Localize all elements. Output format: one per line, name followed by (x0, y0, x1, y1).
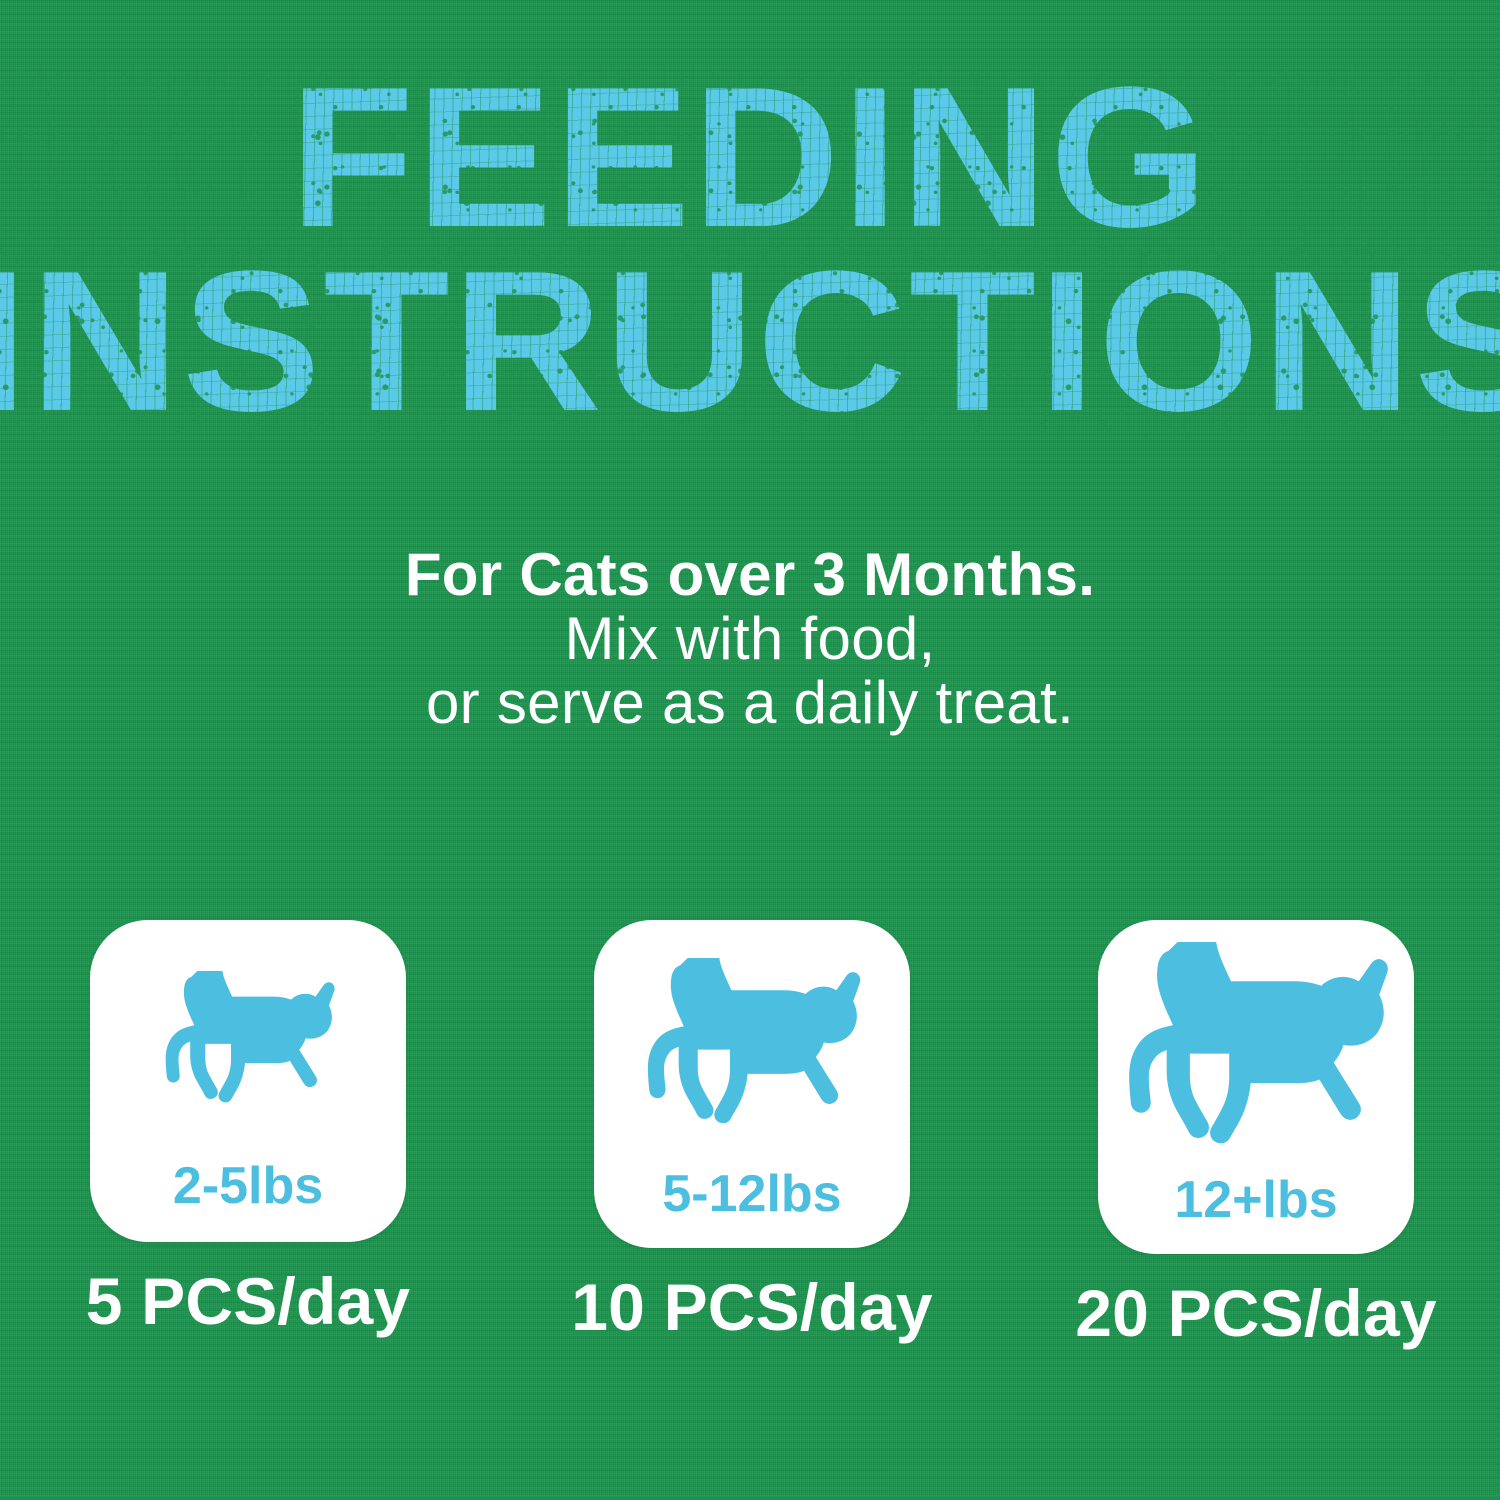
dosage-column-medium: 5-12lbs 10 PCS/day (594, 920, 910, 1340)
dose-label: 5 PCS/day (86, 1268, 411, 1334)
walking-cat-icon (594, 920, 910, 1168)
copy-line-age: For Cats over 3 Months. (0, 543, 1500, 607)
copy-line-mix: Mix with food, (0, 607, 1500, 671)
dose-label: 20 PCS/day (1075, 1280, 1437, 1346)
dosage-column-large: 12+lbs 20 PCS/day (1098, 920, 1414, 1346)
instructions-copy: For Cats over 3 Months. Mix with food, o… (0, 543, 1500, 736)
weight-label: 2-5lbs (173, 1160, 323, 1236)
title-line-instructions: INSTRUCTIONS (0, 246, 1500, 438)
dosage-column-small: 2-5lbs 5 PCS/day (90, 920, 406, 1334)
title-line-feeding: FEEDING (0, 62, 1500, 254)
page-title: FEEDING INSTRUCTIONS (0, 62, 1500, 438)
weight-label: 12+lbs (1174, 1174, 1337, 1250)
weight-label: 5-12lbs (662, 1168, 841, 1244)
walking-cat-icon (90, 920, 406, 1160)
dosage-card-large[interactable]: 12+lbs (1098, 920, 1414, 1254)
dosage-card-row: 2-5lbs 5 PCS/day 5-12lbs 10 PCS/day (90, 920, 1414, 1260)
feeding-instructions-poster: FEEDING INSTRUCTIONS For Cats over 3 Mon… (0, 0, 1500, 1500)
walking-cat-icon (1098, 920, 1414, 1174)
copy-line-treat: or serve as a daily treat. (0, 671, 1500, 735)
dosage-card-medium[interactable]: 5-12lbs (594, 920, 910, 1248)
dosage-card-small[interactable]: 2-5lbs (90, 920, 406, 1242)
dose-label: 10 PCS/day (571, 1274, 933, 1340)
